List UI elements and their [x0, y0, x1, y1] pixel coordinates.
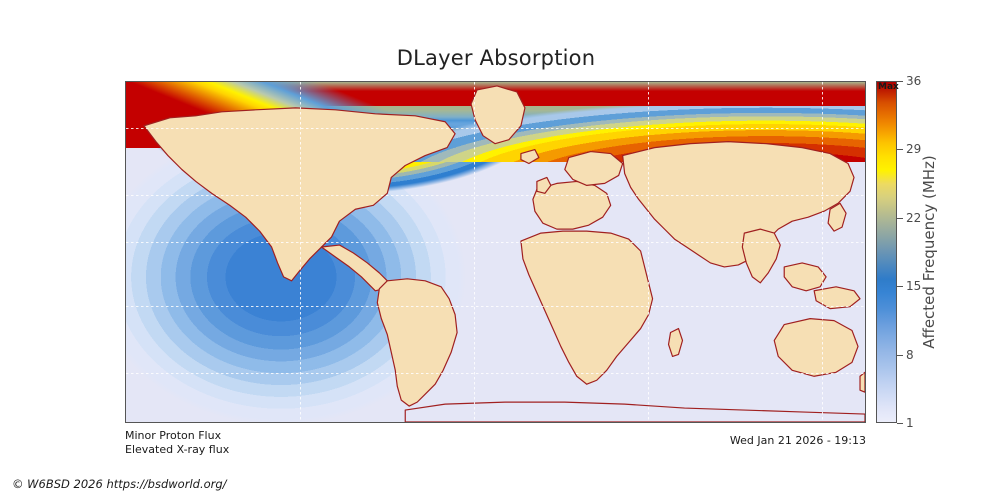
proton-flux-status: Minor Proton Flux: [125, 429, 229, 443]
page-title: DLayer Absorption: [125, 46, 867, 70]
colorbar-tick-1: [897, 423, 903, 424]
continents-overlay: [126, 82, 865, 422]
world-map-plot: [125, 81, 866, 423]
colorbar-axis-label: Affected Frequency (MHz): [918, 81, 940, 423]
xray-flux-status: Elevated X-ray flux: [125, 443, 229, 457]
colorbar-tick-8: [897, 355, 903, 356]
colorbar: [876, 81, 897, 423]
colorbar-axis-label-text: Affected Frequency (MHz): [920, 155, 938, 349]
colorbar-max-label: Max: [877, 82, 899, 92]
colorbar-gradient: [877, 82, 896, 422]
colorbar-tick-29: [897, 149, 903, 150]
colorbar-tick-15: [897, 286, 903, 287]
colorbar-tick-22: [897, 218, 903, 219]
colorbar-tick-36: [897, 81, 903, 82]
colorbar-ticklabel-1: 1: [906, 416, 914, 430]
flux-status-notes: Minor Proton Flux Elevated X-ray flux: [125, 429, 229, 457]
timestamp: Wed Jan 21 2026 - 19:13: [600, 434, 866, 447]
copyright-notice: © W6BSD 2026 https://bsdworld.org/: [12, 477, 227, 491]
colorbar-ticklabel-8: 8: [906, 348, 914, 362]
